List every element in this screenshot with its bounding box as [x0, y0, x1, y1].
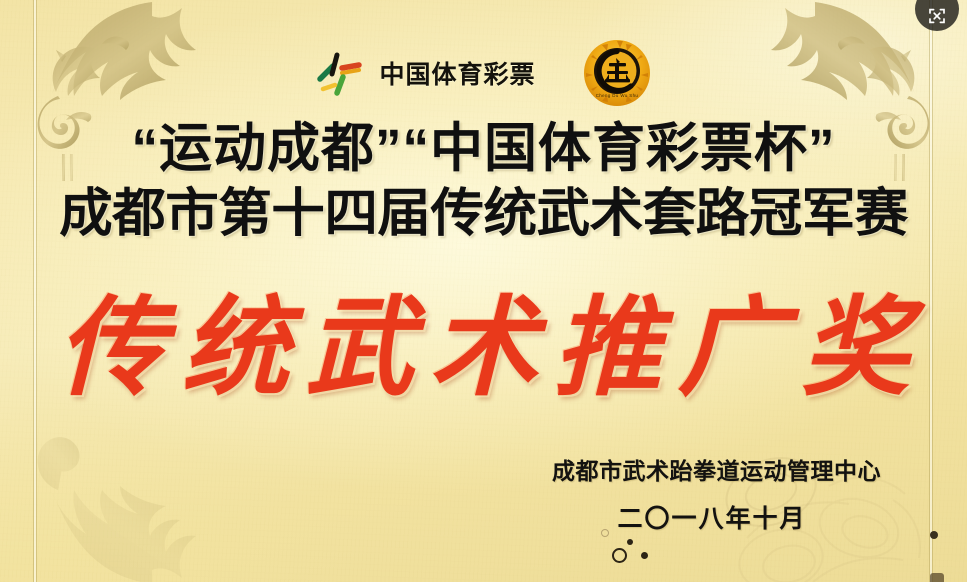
logo-row: 中国体育彩票 — [0, 40, 967, 106]
fullscreen-button[interactable] — [915, 0, 959, 31]
china-sports-lottery-logo: 中国体育彩票 — [315, 49, 535, 97]
title-block: “运动成都”“中国体育彩票杯” 成都市第十四届传统武术套路冠军赛 — [0, 118, 967, 246]
dust-speck — [612, 548, 627, 563]
china-sports-lottery-mark-icon — [315, 49, 367, 97]
svg-text:Cheng Du Wu Shu: Cheng Du Wu Shu — [595, 93, 638, 98]
dust-speck — [641, 552, 648, 559]
event-title-line-1: “运动成都”“中国体育彩票杯” — [0, 118, 967, 179]
dust-speck — [627, 539, 633, 545]
chengdu-wushu-emblem-icon: Cheng Du Wu Shu — [582, 38, 652, 108]
event-title-line-2: 成都市第十四届传统武术套路冠军赛 — [0, 183, 967, 245]
corner-ornament-bottom-left — [2, 405, 212, 582]
award-plaque: 中国体育彩票 — [0, 0, 967, 582]
issuing-organization: 成都市武术跆拳道运动管理中心 — [552, 452, 872, 486]
china-sports-lottery-label: 中国体育彩票 — [379, 55, 535, 91]
issue-date: 二〇一八年十月 — [552, 499, 872, 535]
dust-speck — [930, 573, 944, 582]
signature-block: 成都市武术跆拳道运动管理中心 二〇一八年十月 — [552, 452, 872, 535]
dust-speck — [930, 531, 938, 539]
fullscreen-expand-icon — [927, 6, 947, 26]
award-name: 传统武术推广奖 — [0, 288, 967, 409]
